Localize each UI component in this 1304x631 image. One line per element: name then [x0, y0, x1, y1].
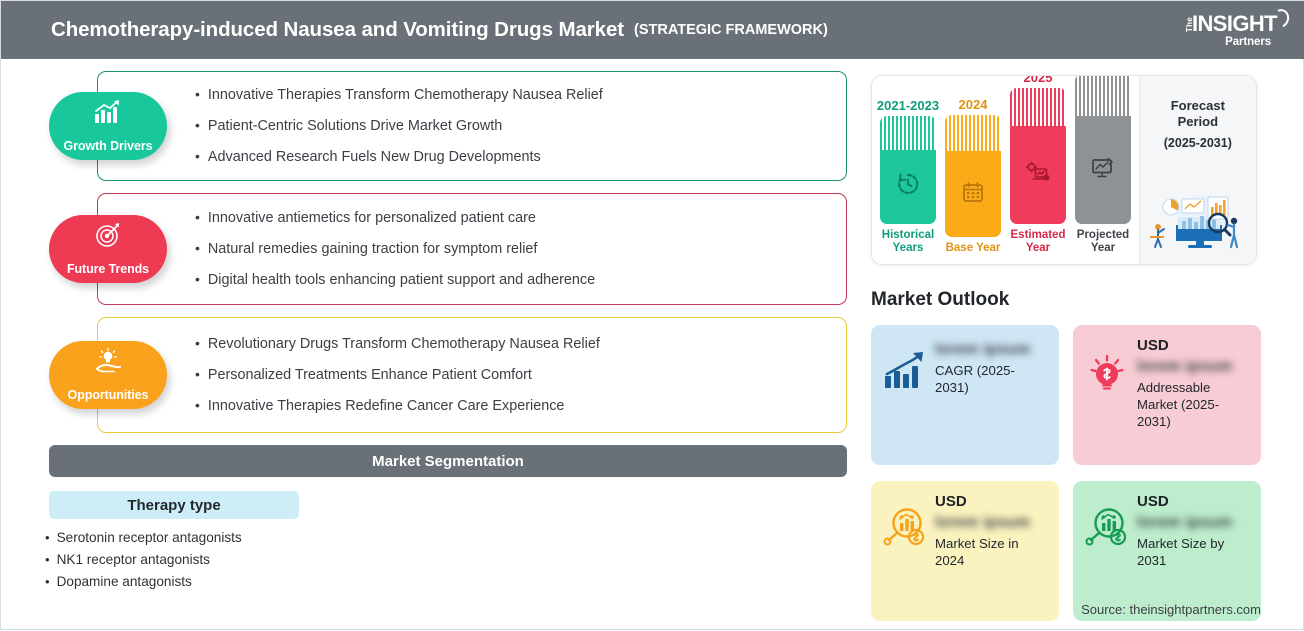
card-label: Market Size by 2031	[1137, 535, 1249, 570]
list-item: •NK1 receptor antagonists	[45, 549, 545, 571]
bullet-dot: •	[195, 117, 200, 134]
bullet-dot: •	[195, 335, 200, 352]
card-value-blurred: lorem ipsum	[935, 341, 1047, 359]
source-attribution: Source: theinsightpartners.com	[1081, 602, 1261, 617]
bullet-dot: •	[195, 240, 200, 257]
bullet-item: •Innovative antiemetics for personalized…	[195, 203, 829, 234]
target-dart-icon	[93, 222, 123, 248]
bullet-item: •Innovative Therapies Redefine Cancer Ca…	[195, 391, 829, 422]
bullet-text: Digital health tools enhancing patient s…	[208, 271, 595, 289]
badge-label: Opportunities	[68, 388, 149, 402]
bullet-dot: •	[195, 86, 200, 103]
bullet-dot: •	[195, 209, 200, 226]
outlook-card-cagr[interactable]: lorem ipsum CAGR (2025-2031)	[871, 325, 1059, 465]
badge-label: Future Trends	[67, 262, 149, 276]
bullet-dot: •	[195, 366, 200, 383]
lightbulb-dollar-icon	[1085, 350, 1131, 397]
page-header: Chemotherapy-induced Nausea and Vomiting…	[1, 1, 1304, 59]
bullet-text: Advanced Research Fuels New Drug Develop…	[208, 148, 541, 166]
card-label: Market Size in 2024	[935, 535, 1047, 570]
factor-block-opportunities: Opportunities •Revolutionary Drugs Trans…	[97, 317, 847, 433]
bullet-text: Innovative Therapies Transform Chemother…	[208, 86, 603, 104]
factor-block-future-trends: Future Trends •Innovative antiemetics fo…	[97, 193, 847, 305]
badge-future-trends[interactable]: Future Trends	[49, 215, 167, 283]
card-value-blurred: lorem ipsum	[1137, 358, 1249, 376]
history-clock-icon	[895, 171, 921, 202]
bar-year-label: 2025	[1024, 75, 1053, 85]
bar-base-year: 2024	[945, 97, 1001, 256]
left-column: Growth Drivers •Innovative Therapies Tra…	[1, 59, 863, 631]
segment-item-text: Serotonin receptor antagonists	[57, 527, 242, 549]
list-item: •Dopamine antagonists	[45, 571, 545, 593]
logo-the-text: The	[1185, 16, 1194, 31]
bullet-item: •Natural remedies gaining traction for s…	[195, 234, 829, 265]
bullet-dot: •	[45, 527, 50, 548]
bullet-text: Patient-Centric Solutions Drive Market G…	[208, 117, 502, 135]
bar-historical-years: 2021-2023	[880, 98, 936, 256]
bullet-text: Revolutionary Drugs Transform Chemothera…	[208, 335, 600, 353]
card-usd-label: USD	[1137, 494, 1249, 511]
bullet-text: Innovative Therapies Redefine Cancer Car…	[208, 397, 565, 415]
market-outlook-title: Market Outlook	[871, 289, 1009, 311]
card-value-blurred: lorem ipsum	[1137, 514, 1249, 532]
bar-solid-segment	[1010, 126, 1066, 224]
magnifier-chart-dollar-icon	[1085, 506, 1131, 553]
card-label: CAGR (2025-2031)	[935, 362, 1047, 397]
outlook-card-addressable-market[interactable]: USD lorem ipsum Addressable Market (2025…	[1073, 325, 1261, 465]
bar-solid-segment	[880, 150, 936, 224]
bar-year-label: 2021-2023	[877, 98, 939, 113]
forecast-title-line2: Period	[1178, 114, 1218, 130]
outlook-card-market-size-2024[interactable]: USD lorem ipsum Market Size in 2024	[871, 481, 1059, 621]
bar-shape	[945, 115, 1001, 237]
segment-item-text: Dopamine antagonists	[57, 571, 192, 593]
bar-shape	[880, 116, 936, 224]
bullet-dot: •	[45, 571, 50, 592]
bullet-text: Innovative antiemetics for personalized …	[208, 209, 536, 227]
page-title: Chemotherapy-induced Nausea and Vomiting…	[51, 18, 624, 42]
bar-caption: Base Year	[946, 242, 1001, 256]
card-body: lorem ipsum CAGR (2025-2031)	[929, 338, 1047, 397]
forecast-title-line1: Forecast	[1171, 98, 1225, 114]
bullet-dot: •	[45, 549, 50, 570]
segment-item-text: NK1 receptor antagonists	[57, 549, 210, 571]
bar-projected-year: 2031	[1075, 75, 1131, 256]
timeline-bar-chart: 2021-2023	[872, 76, 1139, 264]
card-body: USD lorem ipsum Market Size by 2031	[1131, 494, 1249, 569]
bar-chart-growth-icon	[883, 350, 929, 395]
bar-year-label: 2024	[959, 97, 988, 112]
bullet-list-opportunities: •Revolutionary Drugs Transform Chemother…	[195, 317, 829, 433]
bullet-list-growth-drivers: •Innovative Therapies Transform Chemothe…	[195, 71, 829, 181]
growth-chart-icon	[93, 99, 123, 125]
bar-shape	[1075, 75, 1131, 224]
card-usd-label: USD	[1137, 338, 1249, 355]
bar-solid-segment	[1075, 116, 1131, 224]
forecast-period-card: 2021-2023	[871, 75, 1257, 265]
bullet-item: •Revolutionary Drugs Transform Chemother…	[195, 329, 829, 360]
person-left	[1155, 224, 1164, 247]
bar-shape	[1010, 88, 1066, 224]
bar-solid-segment	[945, 151, 1001, 237]
lightbulb-hand-icon	[93, 348, 123, 374]
presentation-chart-icon	[1090, 155, 1116, 184]
bar-caption: Projected Year	[1075, 229, 1131, 256]
bar-stripe-segment	[1010, 88, 1066, 126]
card-body: USD lorem ipsum Market Size in 2024	[929, 494, 1047, 569]
bullet-dot: •	[195, 271, 200, 288]
bullet-text: Personalized Treatments Enhance Patient …	[208, 366, 532, 384]
card-label: Addressable Market (2025-2031)	[1137, 379, 1249, 431]
card-value-blurred: lorem ipsum	[935, 514, 1047, 532]
infographic-page: Chemotherapy-induced Nausea and Vomiting…	[0, 0, 1304, 630]
forecast-range: (2025-2031)	[1164, 136, 1232, 150]
factor-block-growth-drivers: Growth Drivers •Innovative Therapies Tra…	[97, 71, 847, 181]
list-item: •Serotonin receptor antagonists	[45, 527, 545, 549]
bullet-item: •Patient-Centric Solutions Drive Market …	[195, 111, 829, 142]
bullet-item: •Innovative Therapies Transform Chemothe…	[195, 80, 829, 111]
bullet-item: •Personalized Treatments Enhance Patient…	[195, 360, 829, 391]
page-subtitle: (STRATEGIC FRAMEWORK)	[634, 22, 828, 38]
bar-stripe-segment	[945, 115, 1001, 151]
bar-caption: Estimated Year	[1010, 229, 1066, 256]
bar-estimated-year: 2025	[1010, 75, 1066, 256]
badge-opportunities[interactable]: Opportunities	[49, 341, 167, 409]
segment-chip-therapy-type[interactable]: Therapy type	[49, 491, 299, 519]
badge-label: Growth Drivers	[64, 139, 153, 153]
logo-partners-text: Partners	[1225, 36, 1271, 48]
badge-growth-drivers[interactable]: Growth Drivers	[49, 92, 167, 160]
settings-estimate-icon	[1025, 160, 1051, 189]
bar-caption: Historical Years	[880, 229, 936, 256]
card-usd-label: USD	[935, 494, 1047, 511]
bullet-item: •Digital health tools enhancing patient …	[195, 265, 829, 296]
card-body: USD lorem ipsum Addressable Market (2025…	[1131, 338, 1249, 431]
data-analysis-illustration	[1146, 189, 1250, 256]
magnifier-chart-dollar-icon	[883, 506, 929, 553]
segment-item-list: •Serotonin receptor antagonists •NK1 rec…	[45, 527, 545, 593]
bullet-dot: •	[195, 148, 200, 165]
outlook-card-market-size-2031[interactable]: USD lorem ipsum Market Size by 2031	[1073, 481, 1261, 621]
bar-stripe-segment	[1075, 75, 1131, 116]
logo-insight-text: INSIGHT	[1192, 13, 1277, 35]
right-column: 2021-2023	[863, 59, 1304, 631]
market-segmentation-header: Market Segmentation	[49, 445, 847, 477]
bullet-list-future-trends: •Innovative antiemetics for personalized…	[195, 193, 829, 305]
insight-partners-logo: The INSIGHT Partners	[1182, 13, 1283, 48]
calendar-icon	[961, 180, 985, 209]
bullet-text: Natural remedies gaining traction for sy…	[208, 240, 538, 258]
bullet-dot: •	[195, 397, 200, 414]
forecast-period-panel: Forecast Period (2025-2031)	[1139, 76, 1256, 264]
bar-stripe-segment	[880, 116, 936, 150]
bullet-item: •Advanced Research Fuels New Drug Develo…	[195, 142, 829, 173]
